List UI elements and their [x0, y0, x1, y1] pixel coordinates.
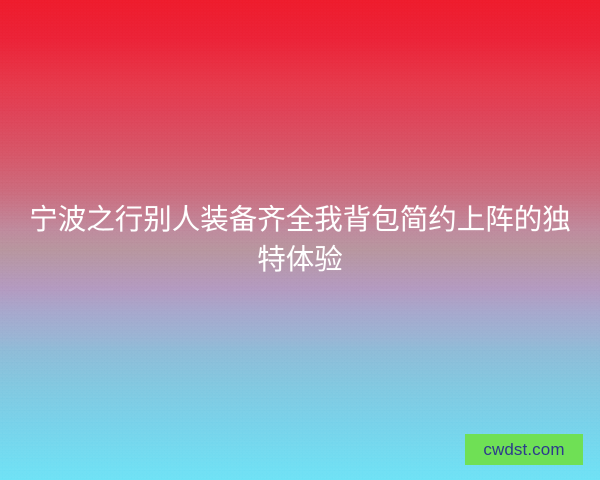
cover-card: 宁波之行别人装备齐全我背包简约上阵的独特体验 cwdst.com: [0, 0, 600, 480]
headline-container: 宁波之行别人装备齐全我背包简约上阵的独特体验: [0, 0, 600, 480]
watermark-label: cwdst.com: [483, 441, 564, 458]
watermark-badge[interactable]: cwdst.com: [465, 434, 583, 465]
headline-text: 宁波之行别人装备齐全我背包简约上阵的独特体验: [26, 200, 574, 280]
